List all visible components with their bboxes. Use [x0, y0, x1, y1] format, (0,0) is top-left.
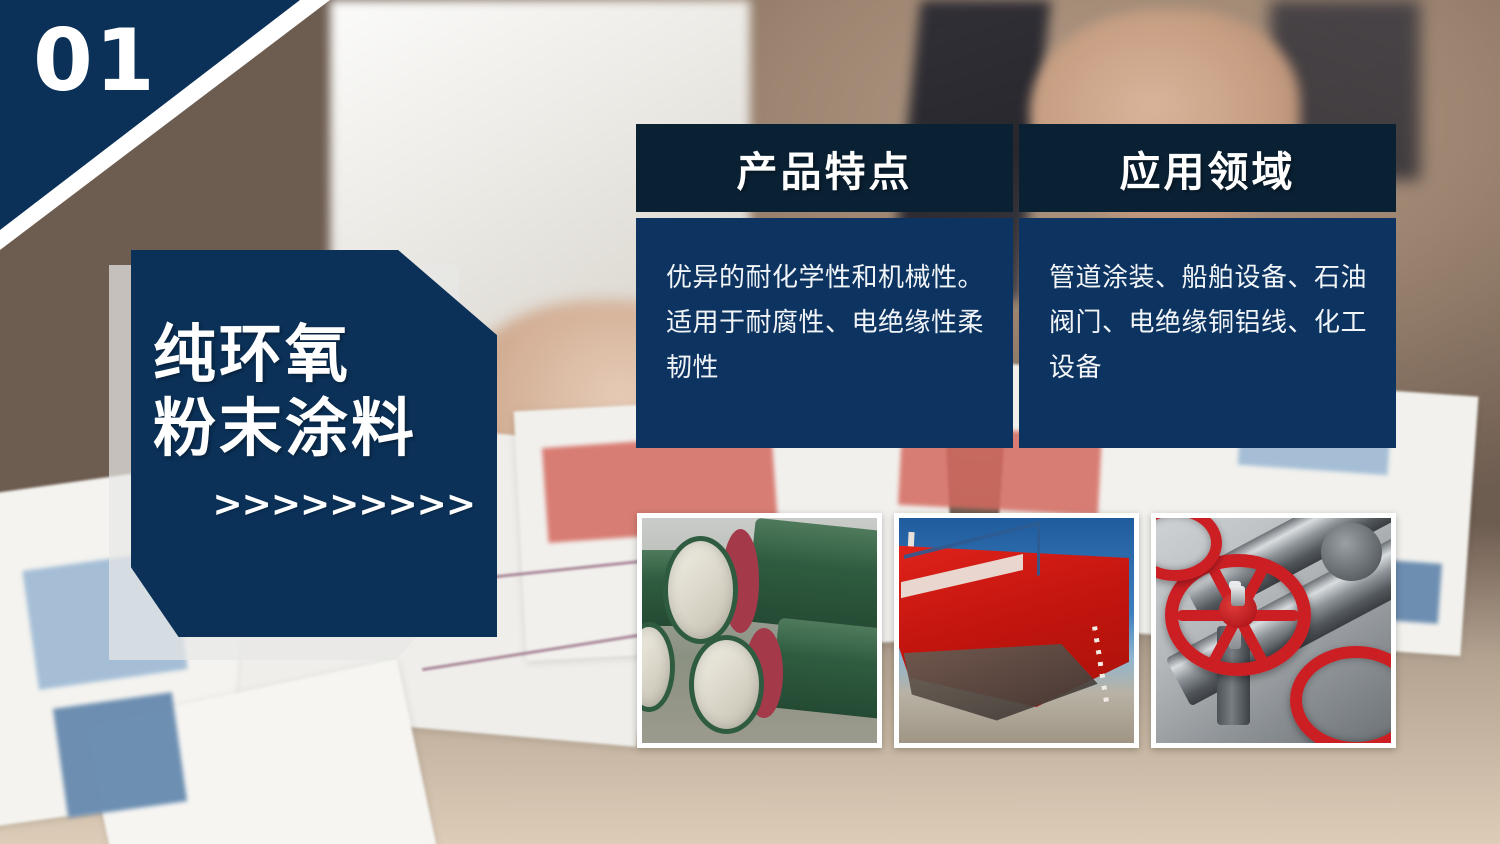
thumbnail-row [637, 513, 1396, 748]
slide-number: 01 [33, 18, 157, 104]
panel-body-label: 管道涂装、船舶设备、石油阀门、电绝缘铜铝线、化工设备 [1049, 256, 1370, 391]
pipe-flange [1321, 523, 1382, 582]
panel-body-product-features: 优异的耐化学性和机械性。适用于耐腐性、电绝缘性柔韧性 [636, 218, 1013, 448]
pipe-body-mid [769, 618, 877, 725]
panel-body-label: 优异的耐化学性和机械性。适用于耐腐性、电绝缘性柔韧性 [666, 256, 987, 391]
chevron-arrows-icon: >>>>>>>>> [131, 487, 497, 523]
panel-heading-label: 应用领域 [1120, 138, 1296, 198]
valves-image [1156, 518, 1391, 743]
panel-header-product-features: 产品特点 [636, 124, 1013, 212]
panel-product-features: 产品特点 优异的耐化学性和机械性。适用于耐腐性、电绝缘性柔韧性 [636, 124, 1013, 448]
ship-image [899, 518, 1134, 743]
panel-heading-label: 产品特点 [737, 138, 913, 198]
thumbnail-red-valve-handwheels [1151, 513, 1396, 748]
title-line-1: 纯环氧 [131, 318, 497, 392]
thumbnail-red-ship-hull [894, 513, 1139, 748]
valve-handwheel-front [1290, 646, 1391, 743]
info-panels: 产品特点 优异的耐化学性和机械性。适用于耐腐性、电绝缘性柔韧性 应用领域 管道涂… [636, 124, 1396, 448]
pipes-image [642, 518, 877, 743]
thumbnail-coated-steel-pipes [637, 513, 882, 748]
pipe-face-mid [689, 635, 764, 734]
panel-header-application-fields: 应用领域 [1019, 124, 1396, 212]
handwheel-bolt [1231, 586, 1245, 606]
pipe-face-back [642, 622, 675, 712]
panel-body-application-fields: 管道涂装、船舶设备、石油阀门、电绝缘铜铝线、化工设备 [1019, 218, 1396, 448]
panel-application-fields: 应用领域 管道涂装、船舶设备、石油阀门、电绝缘铜铝线、化工设备 [1019, 124, 1396, 448]
slide-canvas: 01 纯环氧 粉末涂料 >>>>>>>>> 产品特点 优异的耐化学性和机械性。适… [0, 0, 1500, 844]
title-line-2: 粉末涂料 [131, 392, 497, 466]
photo-chart-shape-2 [53, 692, 187, 818]
pipe-face-top [663, 536, 738, 644]
title-card: 纯环氧 粉末涂料 >>>>>>>>> [131, 250, 497, 637]
